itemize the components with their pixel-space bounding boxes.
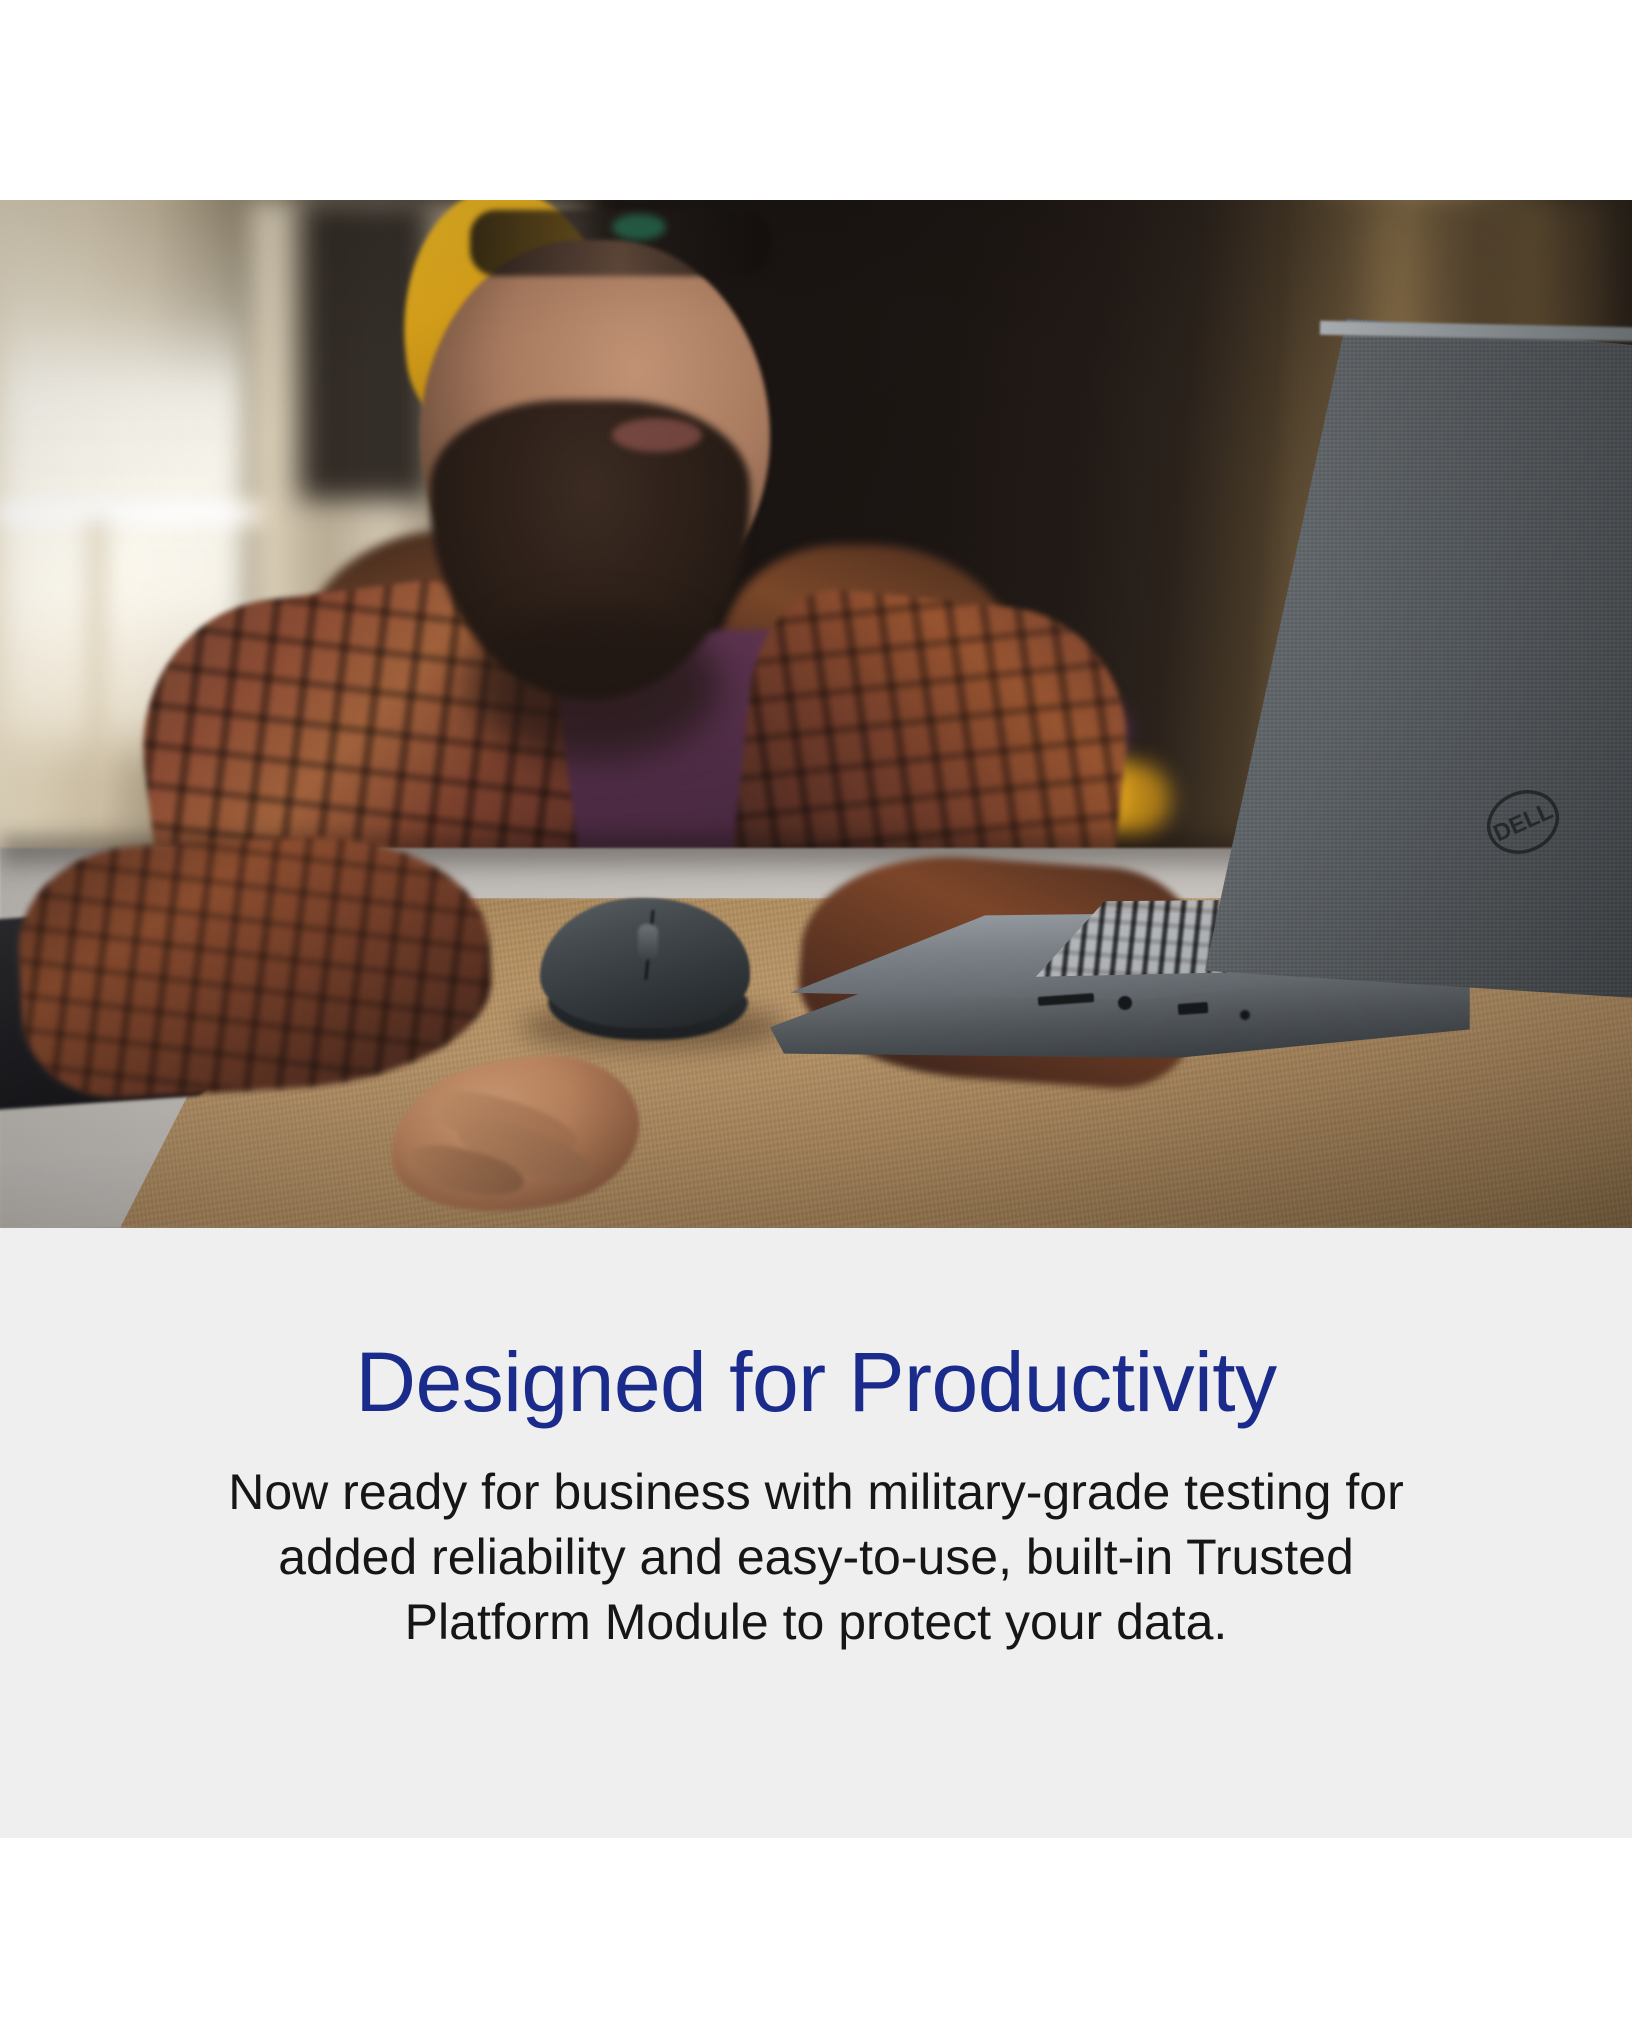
page-title: Designed for Productivity [0,1228,1632,1426]
promo-text-panel: Designed for Productivity Now ready for … [0,1228,1632,1838]
bottom-spacer [0,1838,1632,2040]
dell-logo-icon: DELL [1472,772,1573,872]
product-feature-page: DELL Designed for Productivity Now ready… [0,0,1632,2040]
status-led [1240,1010,1250,1020]
top-spacer [0,0,1632,200]
promo-description: Now ready for business with military-gra… [191,1426,1441,1655]
usb-port [1178,1002,1209,1015]
hero-photo: DELL [0,200,1632,1228]
eyeglasses-reflection [612,214,666,240]
lips [612,418,702,452]
mouse-scroll-wheel [638,924,658,960]
neck-shadow [470,610,720,760]
